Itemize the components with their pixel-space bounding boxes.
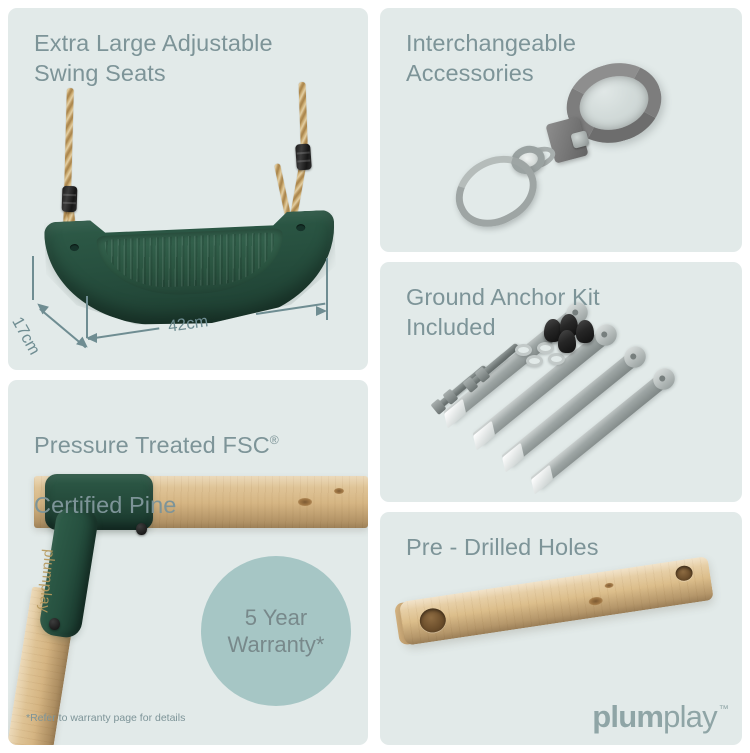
dim-tick-width-left [86,296,88,338]
anchor-washer [515,344,532,356]
panel-pine-title-line2: Certified Pine [34,492,176,518]
swing-seat [44,210,338,331]
anchor-strap-foot [531,464,553,494]
panel-pine-title: Pressure Treated FSC® Certified Pine [34,400,279,520]
wooden-post [399,556,714,646]
warranty-footnote: *Refer to warranty page for details [26,712,185,724]
dim-label-depth: 17cm [8,314,44,359]
product-feature-infographic: Extra Large Adjustable Swing Seats 42cm [0,0,750,753]
anchor-strap-head [649,364,679,394]
panel-pine-title-line1: Pressure Treated FSC [34,432,270,458]
bracket-bolt [49,618,60,630]
dim-label-width: 42cm [167,312,210,336]
dim-line-width-left [88,327,159,339]
anchor-washer [526,355,543,367]
trademark-icon: ™ [719,704,728,715]
panel-swing-seats-title: Extra Large Adjustable Swing Seats [34,28,273,88]
warranty-badge-text: 5 Year Warranty* [228,604,325,659]
anchor-strap-head [620,342,650,372]
anchor-washer [537,342,554,354]
panel-swing-seats: Extra Large Adjustable Swing Seats 42cm [8,8,368,370]
rope-clamp-right [295,144,312,171]
rope-clamp-left [62,186,78,213]
dim-arrow-width-right [316,306,327,316]
bracket-bolt [136,523,147,535]
anchor-washer [548,353,565,365]
logo-text-play: play [663,699,717,735]
panel-pre-drilled-holes-title: Pre - Drilled Holes [406,532,599,562]
wood-knot [334,488,344,494]
wood-knot [298,498,312,506]
wood-knot [588,596,603,606]
panel-interchangeable-accessories: Interchangeable Accessories [380,8,742,252]
registered-trademark-icon: ® [270,433,279,447]
wood-knot [604,582,614,588]
anchor-strap-foot [473,420,495,450]
anchor-strap-foot [502,442,524,472]
panel-accessories-title: Interchangeable Accessories [406,28,576,88]
wooden-post-body [399,556,714,646]
warranty-badge: 5 Year Warranty* [201,556,351,706]
logo-text-plum: plum [592,699,663,735]
panel-ground-anchor-kit: Ground Anchor Kit Included [380,262,742,502]
plumplay-logo: plumplay™ [592,699,728,735]
panel-anchor-kit-title: Ground Anchor Kit Included [406,282,600,342]
swivel-bolt [570,130,589,149]
dim-tick-depth-top [32,256,34,300]
